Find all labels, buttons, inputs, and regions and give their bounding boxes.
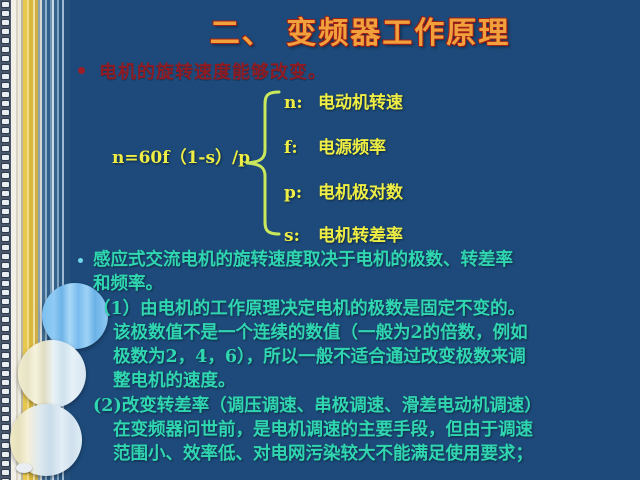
film-perforation-hole <box>2 119 9 124</box>
definition-row: s:电机转差率 <box>284 221 403 246</box>
body-line: 在变频器问世前，是电机调速的主要手段，但由于调速 <box>93 418 630 442</box>
film-perforation-hole <box>2 344 9 349</box>
definition-row: p:电机极对数 <box>284 178 403 203</box>
film-perforation-hole <box>2 164 9 169</box>
body-line: 感应式交流电机的旋转速度取决于电机的极数、转差率 <box>93 250 513 270</box>
definition-symbol: s: <box>284 226 318 246</box>
film-perforation-hole <box>2 110 9 115</box>
film-perforation-hole <box>2 128 9 133</box>
definition-meaning: 电机极对数 <box>318 183 403 203</box>
film-perforation-hole <box>2 434 9 439</box>
bullet-dot-icon <box>78 67 85 74</box>
film-perforation-hole <box>2 407 9 412</box>
film-perforation-hole <box>2 443 9 448</box>
film-perforation-hole <box>2 389 9 394</box>
film-perforation-hole <box>2 92 9 97</box>
film-perforation-hole <box>2 191 9 196</box>
film-perforation-hole <box>2 371 9 376</box>
film-perforation-hole <box>2 245 9 250</box>
film-perforation-hole <box>2 398 9 403</box>
film-perforation-hole <box>2 200 9 205</box>
body-text-block: 感应式交流电机的旋转速度取决于电机的极数、转差率 和频率。 （1）由电机的工作原… <box>78 248 630 467</box>
film-perforation-hole <box>2 299 9 304</box>
film-perforation-hole <box>2 254 9 259</box>
body-paragraph-text: （1）由电机的工作原理决定电机的极数是固定不变的。 该极数值不是一个连续的数值（… <box>93 297 630 393</box>
film-perforation-hole <box>2 137 9 142</box>
film-perforation-hole <box>2 353 9 358</box>
film-perforation-hole <box>2 101 9 106</box>
film-perforation-hole <box>2 227 9 232</box>
body-line: 整电机的速度。 <box>93 369 630 393</box>
small-oval-accent <box>16 463 32 473</box>
film-perforation-hole <box>2 380 9 385</box>
definition-row: n:电动机转速 <box>284 88 403 113</box>
film-perforation-hole <box>2 362 9 367</box>
film-perforation-hole <box>2 2 9 7</box>
body-paragraph-text: 感应式交流电机的旋转速度取决于电机的极数、转差率 和频率。 <box>93 248 630 296</box>
film-perforation-hole <box>2 272 9 277</box>
film-perforation-hole <box>2 290 9 295</box>
formula-block: n=60f（1-s）/p n:电动机转速 f:电源频率 p:电机极对数 s:电机… <box>112 88 612 238</box>
film-perforation-hole <box>2 236 9 241</box>
definition-meaning: 电源频率 <box>318 138 386 158</box>
definition-meaning: 电动机转速 <box>318 93 403 113</box>
film-perforation-hole <box>2 182 9 187</box>
film-perforation-hole <box>2 56 9 61</box>
film-perforation-hole <box>2 470 9 475</box>
body-line: 范围小、效率低、对电网污染较大不能满足使用要求； <box>93 442 630 466</box>
body-paragraph-text: (2)改变转差率（调压调速、串极调速、滑差电动机调速） 在变频器问世前，是电机调… <box>93 394 630 466</box>
body-line: 该极数值不是一个连续的数值（一般为2的倍数，例如 <box>93 321 630 345</box>
film-perforation-hole <box>2 173 9 178</box>
body-paragraph: 感应式交流电机的旋转速度取决于电机的极数、转差率 和频率。 <box>78 248 630 296</box>
definition-symbol: p: <box>284 183 318 203</box>
slide-canvas: 二、 变频器工作原理 电机的旋转速度能够改变。 n=60f（1-s）/p n:电… <box>0 0 640 480</box>
red-bullet-line: 电机的旋转速度能够改变。 <box>78 58 598 84</box>
film-perforation-hole <box>2 281 9 286</box>
film-perforation-hole <box>2 209 9 214</box>
body-line: 和频率。 <box>93 274 163 294</box>
formula-definitions: n:电动机转速 f:电源频率 p:电机极对数 s:电机转差率 <box>284 88 614 238</box>
film-perforation-hole <box>2 83 9 88</box>
film-perforation-hole <box>2 74 9 79</box>
red-bullet-text: 电机的旋转速度能够改变。 <box>99 58 327 84</box>
body-paragraph: （1）由电机的工作原理决定电机的极数是固定不变的。 该极数值不是一个连续的数值（… <box>78 297 630 393</box>
film-perforation-hole <box>2 425 9 430</box>
body-line: (2)改变转差率（调压调速、串极调速、滑差电动机调速） <box>93 396 542 416</box>
body-paragraph: (2)改变转差率（调压调速、串极调速、滑差电动机调速） 在变频器问世前，是电机调… <box>78 394 630 466</box>
film-perforation-hole <box>2 65 9 70</box>
film-perforation-hole <box>2 461 9 466</box>
film-perforation-hole <box>2 146 9 151</box>
formula-equation: n=60f（1-s）/p <box>112 143 250 168</box>
curly-brace-icon <box>239 88 285 243</box>
page-title: 二、 变频器工作原理 <box>0 8 640 52</box>
film-perforation-hole <box>2 317 9 322</box>
film-perforation-hole <box>2 416 9 421</box>
definition-symbol: f: <box>284 138 318 158</box>
film-perforation-hole <box>2 308 9 313</box>
bullet-dot-icon <box>78 258 83 263</box>
film-perforation-hole <box>2 335 9 340</box>
film-perforation-hole <box>2 326 9 331</box>
body-line: 极数为2，4，6），所以一般不适合通过改变极数来调 <box>93 345 630 369</box>
body-line: （1）由电机的工作原理决定电机的极数是固定不变的。 <box>93 299 525 319</box>
film-perforation-hole <box>2 155 9 160</box>
film-perforation-hole <box>2 452 9 457</box>
film-perforation-hole <box>2 218 9 223</box>
film-perforation-hole <box>2 263 9 268</box>
cream-circle <box>18 340 86 408</box>
definition-row: f:电源频率 <box>284 133 386 158</box>
definition-symbol: n: <box>284 93 318 113</box>
definition-meaning: 电机转差率 <box>318 226 403 246</box>
